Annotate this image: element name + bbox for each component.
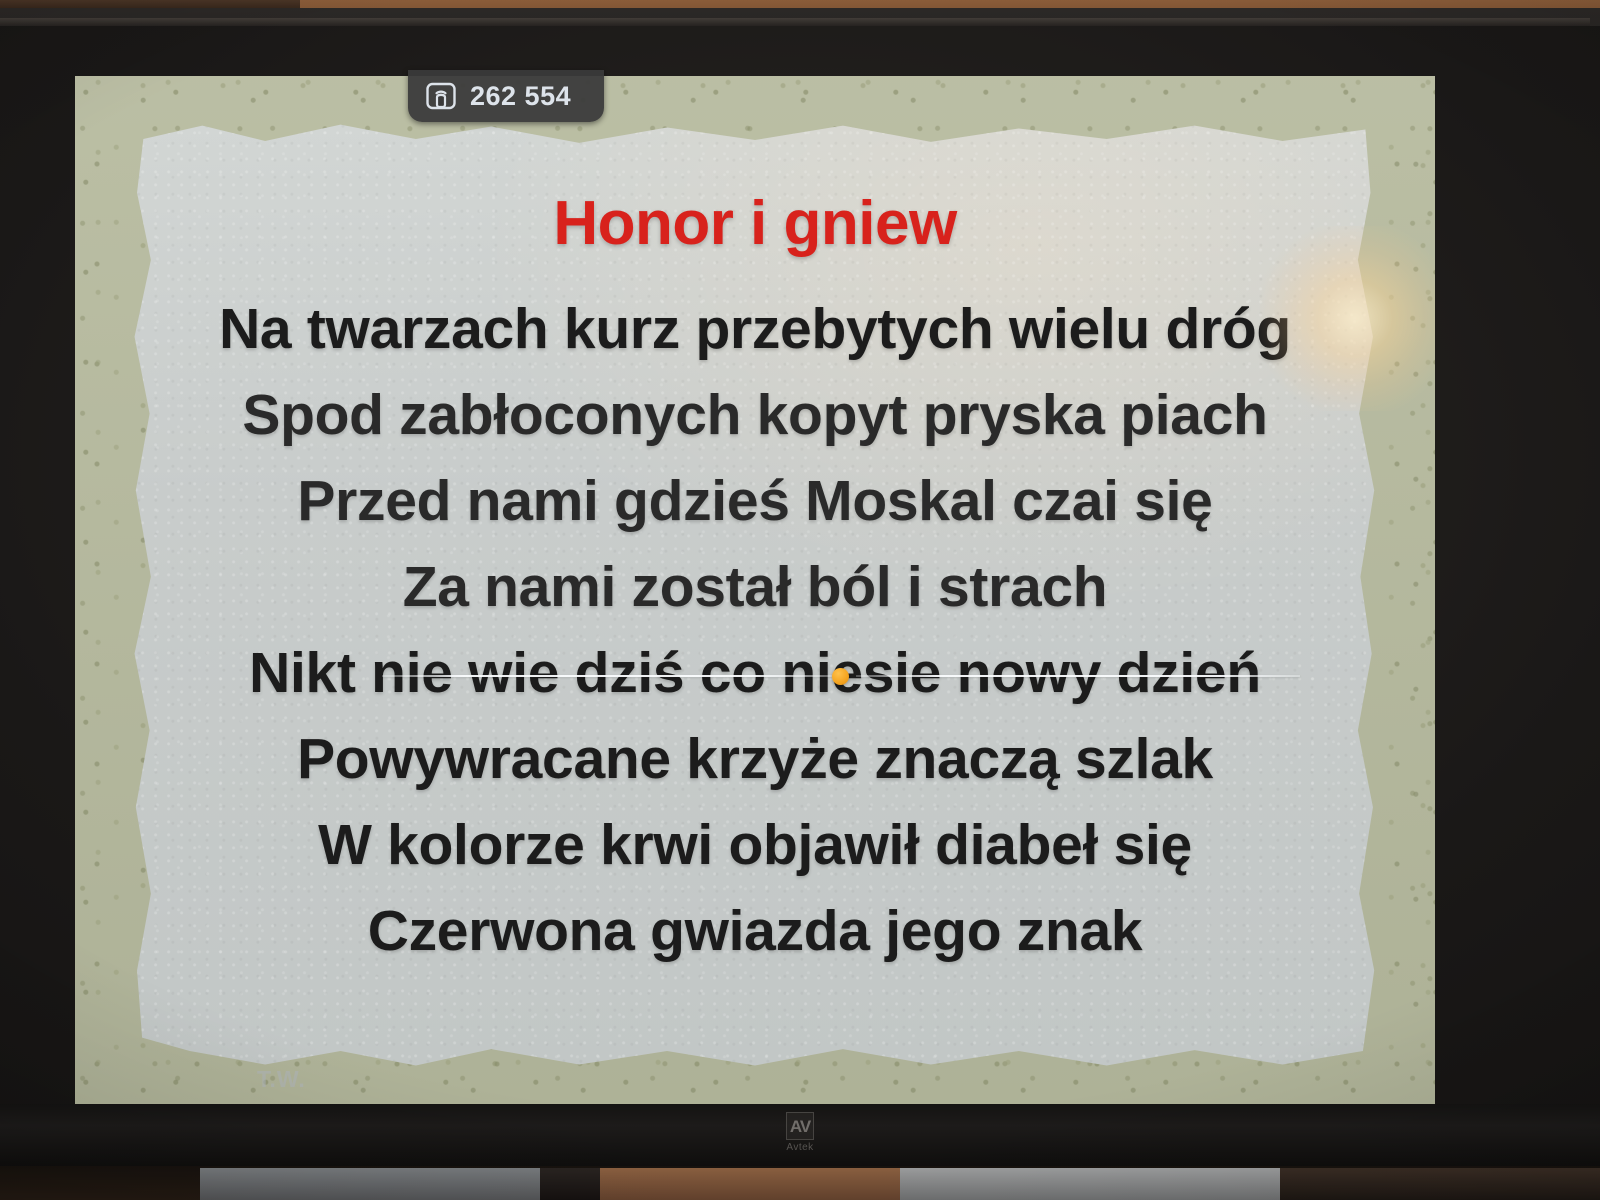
cast-status-badge[interactable]: 262 554	[408, 70, 604, 122]
lyric-line: Czerwona gwiazda jego znak	[127, 888, 1383, 974]
divider-rail-left	[382, 675, 832, 677]
display-screen: Honor i gniew Na twarzach kurz przebytyc…	[0, 26, 1600, 1104]
stanza-progress-divider[interactable]	[382, 668, 1300, 684]
foreground-object	[200, 1168, 540, 1200]
foreground-object	[1280, 1168, 1600, 1200]
foreground-object	[900, 1168, 1280, 1200]
foreground-object	[540, 1168, 600, 1200]
slide-title: Honor i gniew	[127, 188, 1383, 259]
display-brand: AV Avtek	[786, 1112, 814, 1153]
progress-dot-handle[interactable]	[832, 668, 849, 685]
slide-footer-credit: T.W.	[257, 1066, 306, 1093]
foreground-object	[600, 1168, 900, 1200]
cast-viewer-count: 262 554	[470, 81, 571, 112]
slide-content: Honor i gniew Na twarzach kurz przebytyc…	[127, 116, 1383, 1076]
lyric-line: Spod zabłoconych kopyt pryska piach	[127, 372, 1383, 458]
presentation-slide: Honor i gniew Na twarzach kurz przebytyc…	[75, 76, 1435, 1116]
lyrics-block: Na twarzach kurz przebytych wielu dróg S…	[127, 286, 1383, 974]
brand-name-label: Avtek	[786, 1142, 813, 1153]
lyric-line: Powywracane krzyże znaczą szlak	[127, 716, 1383, 802]
lyric-line: Na twarzach kurz przebytych wielu dróg	[127, 286, 1383, 372]
lyric-line: Za nami został ból i strach	[127, 544, 1383, 630]
screen-cast-icon	[426, 82, 456, 110]
avtek-logo-icon: AV	[786, 1112, 814, 1140]
lyric-line: Przed nami gdzieś Moskal czai się	[127, 458, 1383, 544]
photo-scene: Honor i gniew Na twarzach kurz przebytyc…	[0, 0, 1600, 1200]
lyric-line: W kolorze krwi objawił diabeł się	[127, 802, 1383, 888]
divider-rail-right	[856, 675, 1300, 677]
